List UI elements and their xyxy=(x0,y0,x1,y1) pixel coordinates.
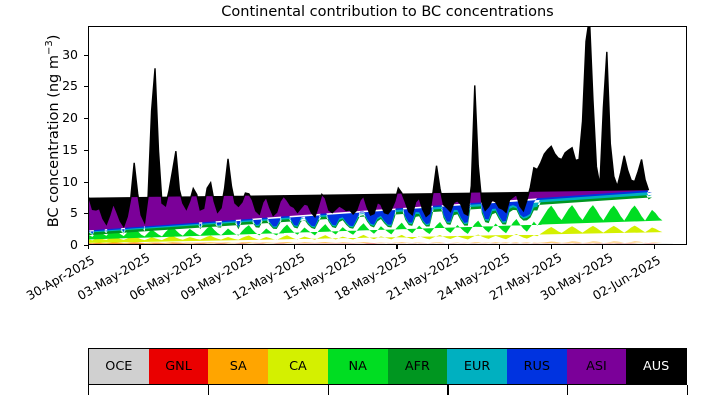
x-tick-mark xyxy=(88,245,89,249)
y-tick-label: 5 xyxy=(70,205,78,220)
x-tick-mark xyxy=(602,245,603,249)
y-axis-label-exponent: −3 xyxy=(44,40,55,55)
x-tick-mark xyxy=(654,245,655,249)
legend-item-oce[interactable]: OCE xyxy=(89,349,149,384)
y-tick-label: 30 xyxy=(62,47,78,62)
x-tick-mark xyxy=(499,245,500,249)
plot-area xyxy=(88,26,687,245)
legend-tick-mark xyxy=(328,385,329,395)
legend: OCEGNLSACANAAFREURRUSASIAUS xyxy=(88,348,687,385)
legend-tick-mark xyxy=(208,385,209,395)
legend-item-na[interactable]: NA xyxy=(328,349,388,384)
legend-tick-mark xyxy=(447,385,448,395)
y-tick-label: 10 xyxy=(62,174,78,189)
y-axis-label: BC concentration (ng m−3) xyxy=(44,0,62,266)
area-series-sa xyxy=(89,242,662,244)
chart-figure: Continental contribution to BC concentra… xyxy=(0,0,711,402)
y-axis-label-close: ) xyxy=(46,35,62,41)
stacked-area-svg xyxy=(89,27,686,244)
x-tick-mark xyxy=(139,245,140,249)
legend-item-afr[interactable]: AFR xyxy=(388,349,448,384)
y-tick-label: 15 xyxy=(62,142,78,157)
legend-tick-mark xyxy=(88,385,89,395)
y-axis-label-text: BC concentration (ng m xyxy=(46,55,62,227)
x-tick-mark xyxy=(448,245,449,249)
legend-item-sa[interactable]: SA xyxy=(208,349,268,384)
x-tick-mark xyxy=(345,245,346,249)
x-tick-mark xyxy=(396,245,397,249)
legend-tick-mark xyxy=(687,385,688,395)
legend-item-gnl[interactable]: GNL xyxy=(149,349,209,384)
x-tick-mark xyxy=(191,245,192,249)
y-tick-label: 0 xyxy=(70,237,78,252)
y-tick-label: 25 xyxy=(62,78,78,93)
legend-item-asi[interactable]: ASI xyxy=(567,349,627,384)
legend-item-rus[interactable]: RUS xyxy=(507,349,567,384)
x-tick-mark xyxy=(551,245,552,249)
legend-item-ca[interactable]: CA xyxy=(268,349,328,384)
y-tick-label: 20 xyxy=(62,110,78,125)
x-tick-mark xyxy=(294,245,295,249)
legend-item-eur[interactable]: EUR xyxy=(447,349,507,384)
legend-item-aus[interactable]: AUS xyxy=(626,349,686,384)
legend-tick-mark xyxy=(567,385,568,395)
page-title: Continental contribution to BC concentra… xyxy=(88,3,687,21)
x-tick-mark xyxy=(242,245,243,249)
